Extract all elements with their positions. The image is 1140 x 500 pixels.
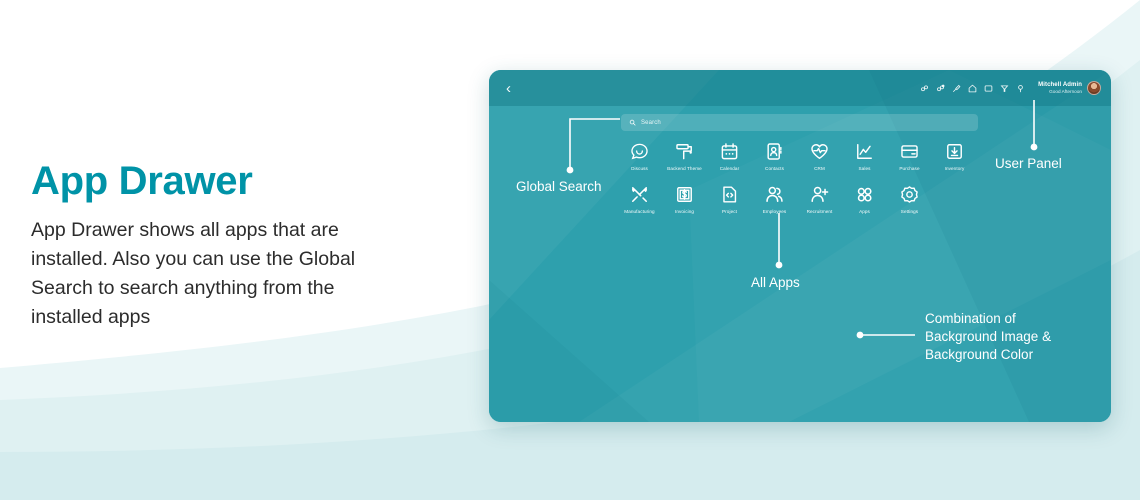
app-item-inventory[interactable]: Inventory xyxy=(932,140,977,171)
tools-cross-icon xyxy=(630,183,649,205)
user-text: Mitchell Admin Good Afternoon xyxy=(1038,82,1082,94)
app-item-purchase[interactable]: Purchase xyxy=(887,140,932,171)
alert-icon[interactable] xyxy=(1000,84,1009,93)
apps-grid-icon[interactable] xyxy=(984,84,993,93)
contacts-book-icon xyxy=(765,140,784,162)
app-label: CRM xyxy=(814,166,825,171)
app-item-apps[interactable]: Apps xyxy=(842,183,887,214)
drawer-topbar: ‹ Mitc xyxy=(489,70,1111,106)
annotation-all-apps: All Apps xyxy=(751,274,800,292)
user-name: Mitchell Admin xyxy=(1038,82,1082,89)
code-file-icon xyxy=(720,183,739,205)
dollar-document-icon xyxy=(675,183,694,205)
app-item-crm[interactable]: CRM xyxy=(797,140,842,171)
person-plus-icon xyxy=(810,183,829,205)
chevron-left-icon[interactable]: ‹ xyxy=(506,81,511,96)
app-label: Manufacturing xyxy=(624,209,654,214)
app-label: Purchase xyxy=(899,166,919,171)
app-item-project[interactable]: Project xyxy=(707,183,752,214)
user-greeting: Good Afternoon xyxy=(1038,89,1082,94)
credit-card-icon xyxy=(900,140,919,162)
app-label: Backend Theme xyxy=(667,166,702,171)
app-label: Discuss xyxy=(631,166,648,171)
home-icon[interactable] xyxy=(968,84,977,93)
app-label: Contacts xyxy=(765,166,784,171)
page-title: App Drawer xyxy=(31,160,431,202)
debug-icon[interactable] xyxy=(1016,84,1025,93)
systray: Mitchell Admin Good Afternoon xyxy=(920,81,1101,95)
app-label: Inventory xyxy=(945,166,965,171)
paint-roller-icon xyxy=(675,140,694,162)
box-download-icon xyxy=(945,140,964,162)
intro-copy-block: App Drawer App Drawer shows all apps tha… xyxy=(31,160,431,331)
user-panel-menu[interactable]: Mitchell Admin Good Afternoon xyxy=(1038,81,1101,95)
search-input[interactable]: Search xyxy=(621,114,978,131)
app-label: Apps xyxy=(859,209,870,214)
app-item-contacts[interactable]: Contacts xyxy=(752,140,797,171)
app-item-discuss[interactable]: Discuss xyxy=(617,140,662,171)
activities-icon[interactable] xyxy=(920,84,929,93)
discuss-icon xyxy=(630,140,649,162)
app-item-backend-theme[interactable]: Backend Theme xyxy=(662,140,707,171)
avatar[interactable] xyxy=(1087,81,1101,95)
annotation-user-panel: User Panel xyxy=(995,155,1062,173)
app-label: Calendar xyxy=(720,166,739,171)
app-item-employees[interactable]: Employees xyxy=(752,183,797,214)
app-item-recruitment[interactable]: Recruitment xyxy=(797,183,842,214)
gear-icon xyxy=(900,183,919,205)
search-icon xyxy=(629,119,636,126)
app-item-sales[interactable]: Sales xyxy=(842,140,887,171)
page-description: App Drawer shows all apps that are insta… xyxy=(31,216,391,331)
app-item-invoicing[interactable]: Invoicing xyxy=(662,183,707,214)
app-item-settings[interactable]: Settings xyxy=(887,183,932,214)
messages-icon[interactable] xyxy=(936,84,945,93)
app-label: Project xyxy=(722,209,737,214)
app-label: Employees xyxy=(763,209,787,214)
app-label: Sales xyxy=(859,166,871,171)
app-grid: Discuss Backend Theme xyxy=(617,140,977,214)
calendar-icon xyxy=(720,140,739,162)
pin-icon[interactable] xyxy=(952,84,961,93)
four-dots-icon xyxy=(855,183,874,205)
app-label: Recruitment xyxy=(807,209,833,214)
search-placeholder: Search xyxy=(641,120,661,126)
app-drawer-panel: ‹ Mitc xyxy=(489,70,1111,422)
app-label: Invoicing xyxy=(675,209,694,214)
people-icon xyxy=(765,183,784,205)
annotation-background: Combination of Background Image & Backgr… xyxy=(925,310,1051,365)
heart-pulse-icon xyxy=(810,140,829,162)
chart-line-icon xyxy=(855,140,874,162)
app-item-calendar[interactable]: Calendar xyxy=(707,140,752,171)
annotation-global-search: Global Search xyxy=(516,178,602,196)
app-label: Settings xyxy=(901,209,918,214)
app-item-manufacturing[interactable]: Manufacturing xyxy=(617,183,662,214)
